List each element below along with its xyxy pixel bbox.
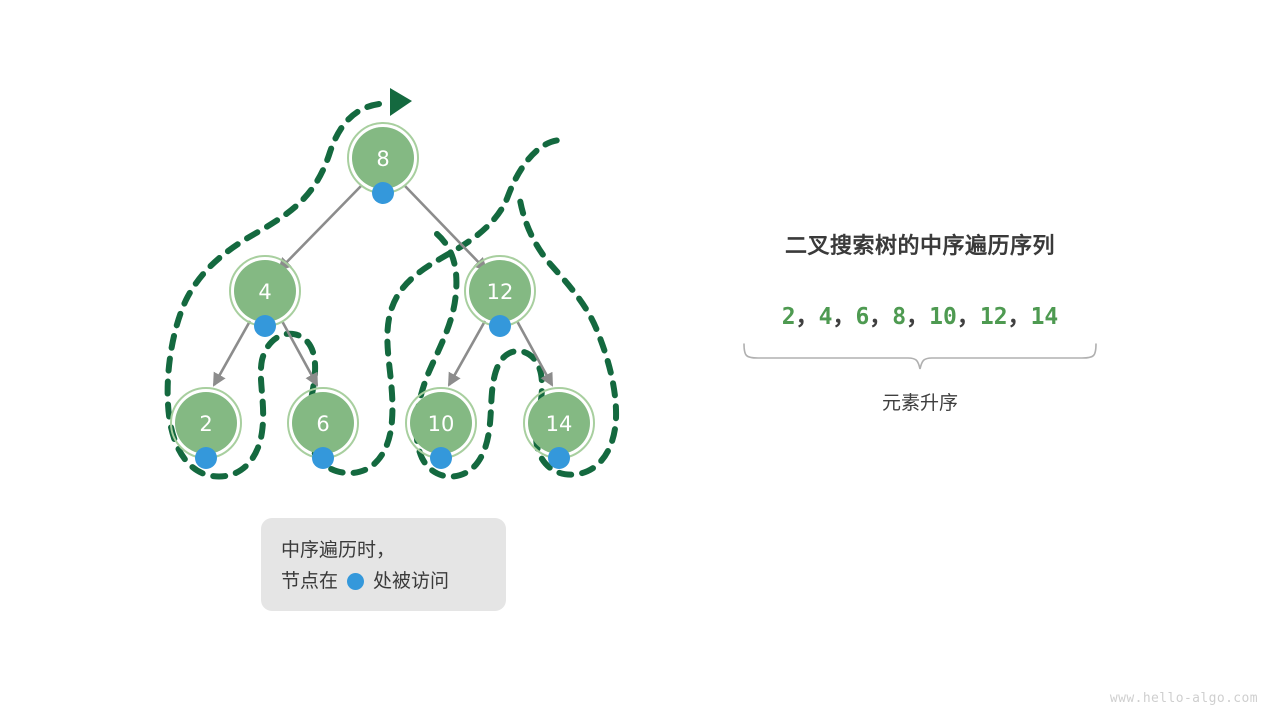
visit-dot-12 <box>489 315 511 337</box>
legend-text-2-before: 节点在 <box>281 566 338 597</box>
legend-line-2: 节点在 处被访问 <box>281 566 506 597</box>
watermark: www.hello-algo.com <box>1110 691 1258 706</box>
visit-dot-10 <box>430 447 452 469</box>
edge-12-10 <box>449 321 485 385</box>
node-value: 10 <box>428 412 455 436</box>
page-title: 二叉搜索树的中序遍历序列 <box>700 236 1140 258</box>
legend-text-1: 中序遍历时， <box>281 535 395 566</box>
brace-caption: 元素升序 <box>700 388 1140 415</box>
sequence-separator: ， <box>1008 304 1031 330</box>
node-value: 2 <box>199 412 212 436</box>
visit-dot-4 <box>254 315 276 337</box>
tree-nodes-group: 8 4 12 2 6 <box>171 123 594 458</box>
visit-dot-8 <box>372 182 394 204</box>
visit-marker-dot-icon <box>347 573 364 590</box>
node-value: 4 <box>258 280 271 304</box>
legend-line-1: 中序遍历时， <box>281 535 506 566</box>
sequence-separator: ， <box>957 304 980 330</box>
sequence-value: 14 <box>1031 304 1059 330</box>
visit-dot-6 <box>312 447 334 469</box>
sequence-value: 8 <box>892 304 906 330</box>
sequence-value: 12 <box>980 304 1008 330</box>
diagram-canvas: 8 4 12 2 6 <box>0 0 1280 720</box>
inorder-sequence: 2，4，6，8，10，12，14 <box>700 297 1140 331</box>
sequence-panel: 二叉搜索树的中序遍历序列 2，4，6，8，10，12，14 元素升序 <box>700 236 1140 415</box>
sequence-value: 2 <box>782 304 796 330</box>
node-value: 6 <box>316 412 329 436</box>
node-value: 14 <box>546 412 573 436</box>
sequence-separator: ， <box>906 304 929 330</box>
visit-dots-group <box>195 182 570 469</box>
range-brace-icon <box>740 340 1100 374</box>
sequence-separator: ， <box>832 304 855 330</box>
sequence-separator: ， <box>796 304 819 330</box>
visit-dot-2 <box>195 447 217 469</box>
traversal-start-arrow-icon <box>390 88 412 116</box>
node-value: 12 <box>487 280 514 304</box>
sequence-separator: ， <box>869 304 892 330</box>
node-value: 8 <box>376 147 389 171</box>
edge-4-2 <box>214 321 250 385</box>
legend-panel: 中序遍历时， 节点在 处被访问 <box>261 518 506 611</box>
legend-text-2-after: 处被访问 <box>373 566 449 597</box>
sequence-value: 10 <box>929 304 957 330</box>
visit-dot-14 <box>548 447 570 469</box>
edge-8-4 <box>279 186 361 270</box>
sequence-value: 4 <box>819 304 833 330</box>
sequence-value: 6 <box>855 304 869 330</box>
